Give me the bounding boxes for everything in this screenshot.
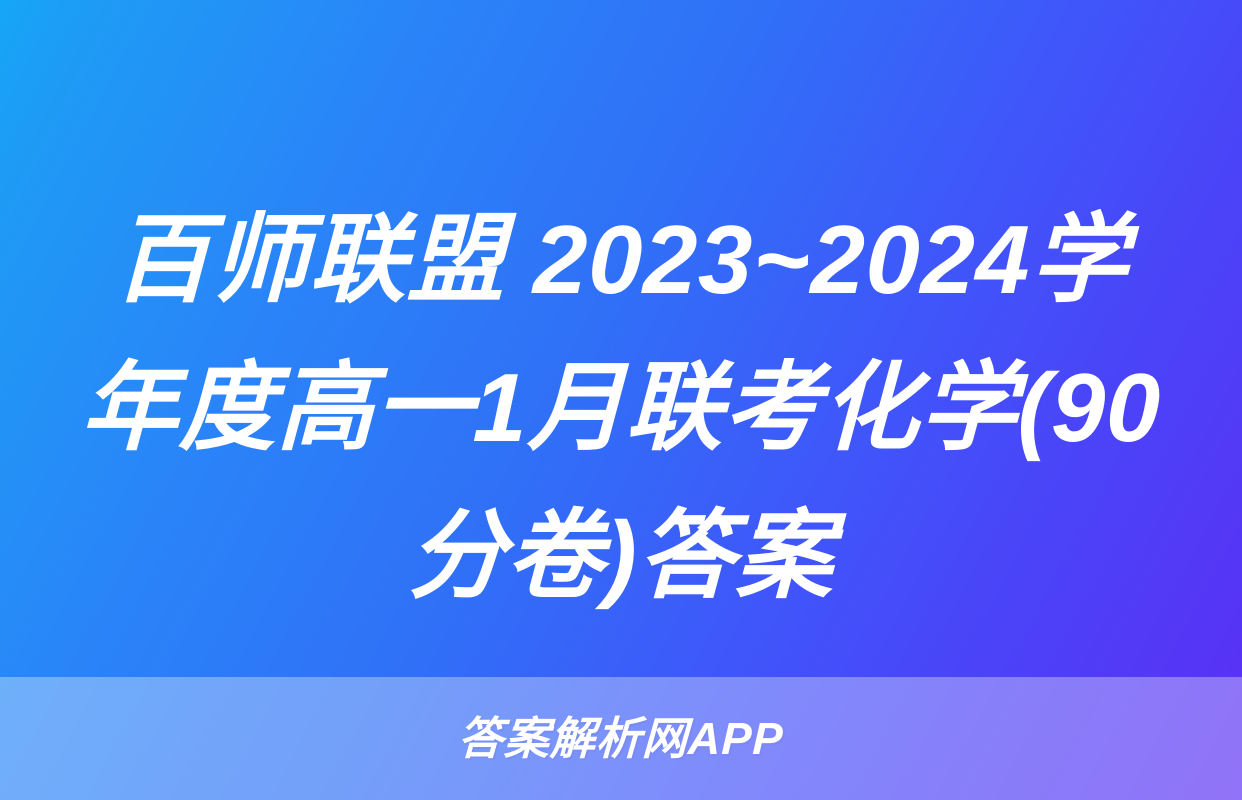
title-card: 百师联盟 2023~2024学 年度高一1月联考化学(90 分卷)答案 答案解析…	[0, 0, 1242, 800]
title-line-1: 百师联盟 2023~2024学	[45, 186, 1198, 334]
watermark-band: 答案解析网APP	[0, 677, 1242, 800]
title-line-2: 年度高一1月联考化学(90	[45, 334, 1198, 482]
title-line-3: 分卷)答案	[45, 482, 1198, 630]
watermark-text: 答案解析网APP	[457, 716, 784, 761]
page-title: 百师联盟 2023~2024学 年度高一1月联考化学(90 分卷)答案	[0, 186, 1242, 630]
